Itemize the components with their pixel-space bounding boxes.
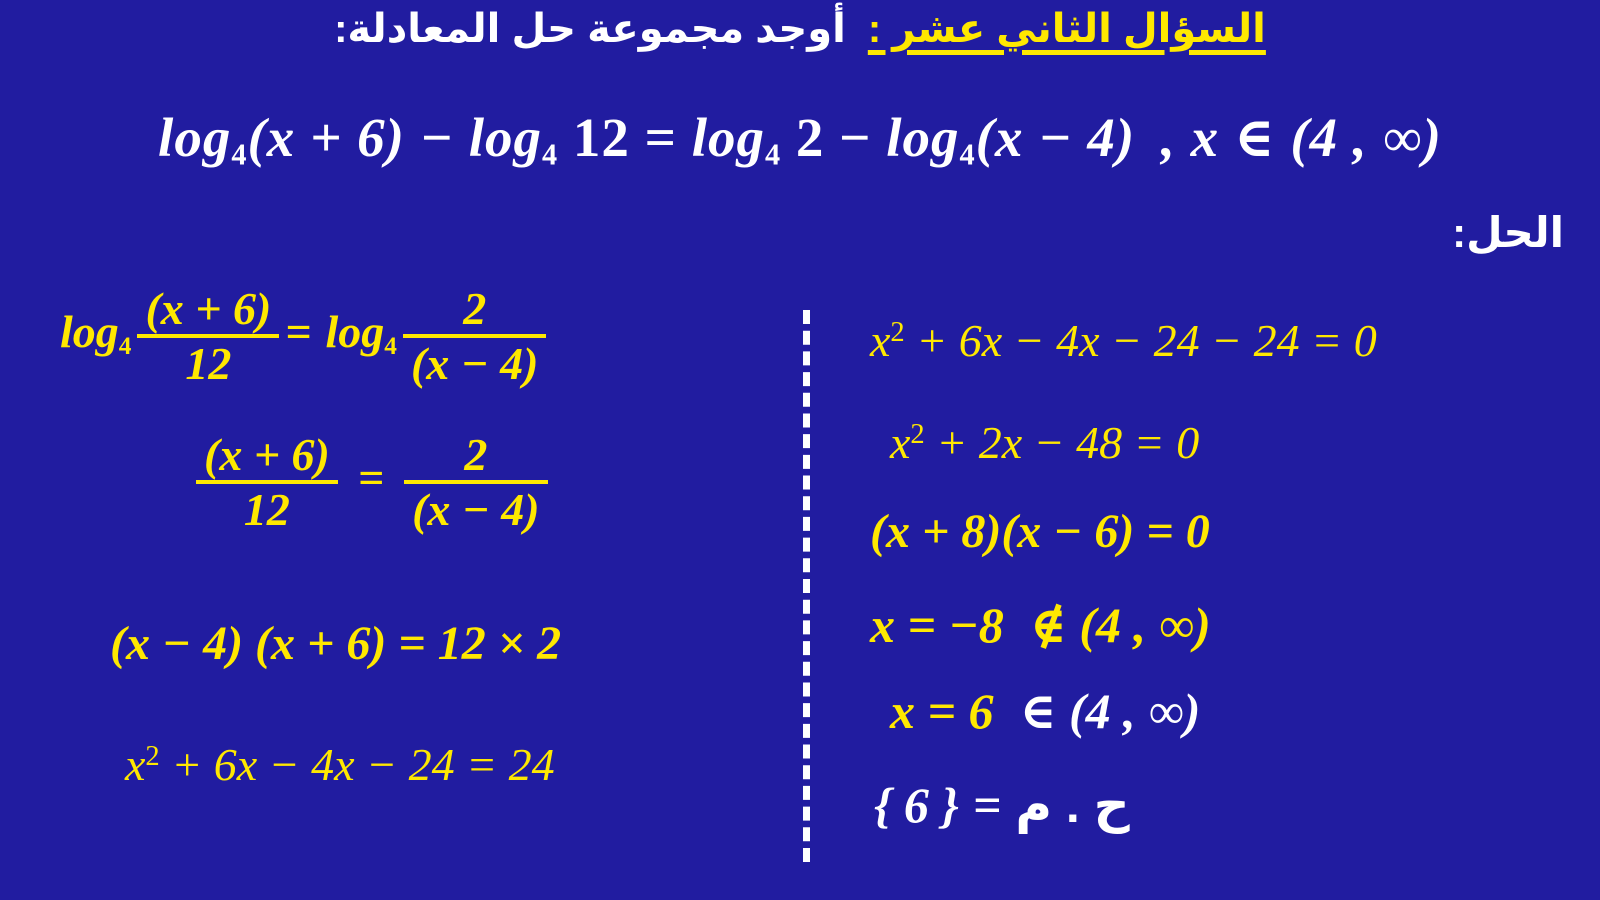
left-line2-frac1-numerator: (x + 6) <box>196 432 338 480</box>
answer-label-arabic: ح . م <box>1015 777 1129 833</box>
left-line4-lead: x <box>125 739 145 790</box>
right-line-4: x = −8∉ (4 , ∞) <box>870 600 1211 650</box>
main-eq-log1: log <box>158 107 231 168</box>
left-line4-rest: + 6x − 4x − 24 = 24 <box>160 739 555 790</box>
column-divider <box>803 310 810 862</box>
right-line4-relation: ∉ (4 , ∞) <box>1030 597 1211 653</box>
main-eq-base1: 4 <box>231 137 247 171</box>
left-line2-equals: = <box>358 452 384 503</box>
main-eq-log2: log <box>469 107 542 168</box>
question-prompt: أوجد مجموعة حل المعادلة: <box>334 7 846 51</box>
right-line5-value: x = 6 <box>890 683 994 739</box>
answer-equals: = <box>973 777 1002 833</box>
slide-header: السؤال الثاني عشر :أوجد مجموعة حل المعاد… <box>0 6 1600 52</box>
right-line1-rest: + 6x − 4x − 24 − 24 = 0 <box>905 315 1377 366</box>
main-eq-log3: log <box>692 107 765 168</box>
left-line1-equals: = <box>285 306 311 357</box>
main-eq-base3: 4 <box>765 137 781 171</box>
right-line-2: x2 + 2x − 48 = 0 <box>890 420 1199 466</box>
right-line1-exponent: 2 <box>890 317 904 348</box>
main-eq-part2: 12 = <box>558 107 692 168</box>
main-equation: log4(x + 6) − log4 12 = log4 2 − log4(x … <box>0 104 1600 172</box>
solution-label: الحل: <box>1452 208 1564 257</box>
left-line2-fraction-2: 2(x − 4) <box>404 432 548 533</box>
right-line1-lead: x <box>870 315 890 366</box>
left-line4-exponent: 2 <box>145 741 159 772</box>
left-line2-fraction-1: (x + 6)12 <box>196 432 338 533</box>
left-line1-base: 4 <box>119 332 132 360</box>
left-line2-frac1-denominator: 12 <box>196 480 338 533</box>
main-eq-base2: 4 <box>542 137 558 171</box>
left-line1-frac2-denominator: (x − 4) <box>403 334 547 387</box>
left-line1-fraction-1: (x + 6)12 <box>137 286 279 387</box>
left-line1-base-2: 4 <box>384 332 397 360</box>
right-line5-relation: ∈ (4 , ∞) <box>1020 683 1201 739</box>
right-line4-value: x = −8 <box>870 597 1004 653</box>
left-line1-fraction-2: 2(x − 4) <box>403 286 547 387</box>
left-line2-frac2-denominator: (x − 4) <box>404 480 548 533</box>
left-line1-log-2: log <box>326 306 385 357</box>
right-line-5: x = 6∈ (4 , ∞) <box>890 686 1200 736</box>
left-line-4: x2 + 6x − 4x − 24 = 24 <box>125 742 555 788</box>
right-line-3: (x + 8)(x − 6) = 0 <box>870 508 1210 556</box>
main-eq-part1: (x + 6) − <box>247 107 468 168</box>
main-eq-domain: , x ∈ (4 , ∞) <box>1161 107 1442 168</box>
left-line-1: log4(x + 6)12=log42(x − 4) <box>60 286 552 387</box>
left-line1-frac1-numerator: (x + 6) <box>137 286 279 334</box>
left-line2-frac2-numerator: 2 <box>404 432 548 480</box>
main-eq-part3: 2 − <box>781 107 886 168</box>
main-eq-part4: (x − 4) <box>976 107 1135 168</box>
slide-canvas: السؤال الثاني عشر :أوجد مجموعة حل المعاد… <box>0 0 1600 900</box>
left-line1-frac2-numerator: 2 <box>403 286 547 334</box>
left-line1-frac1-denominator: 12 <box>137 334 279 387</box>
right-line-1: x2 + 6x − 4x − 24 − 24 = 0 <box>870 318 1377 364</box>
main-eq-log4: log <box>886 107 959 168</box>
right-line2-lead: x <box>890 417 910 468</box>
question-title: السؤال الثاني عشر : <box>868 7 1266 51</box>
left-line-3: (x − 4) (x + 6) = 12 × 2 <box>110 620 561 668</box>
main-eq-base4: 4 <box>960 137 976 171</box>
answer-set: { 6 } <box>874 777 959 833</box>
right-line-6-answer: { 6 }=ح . م <box>874 780 1130 830</box>
left-line1-log: log <box>60 306 119 357</box>
right-line2-exponent: 2 <box>910 419 924 450</box>
left-line-2: (x + 6)12=2(x − 4) <box>190 432 554 533</box>
right-line2-rest: + 2x − 48 = 0 <box>925 417 1200 468</box>
